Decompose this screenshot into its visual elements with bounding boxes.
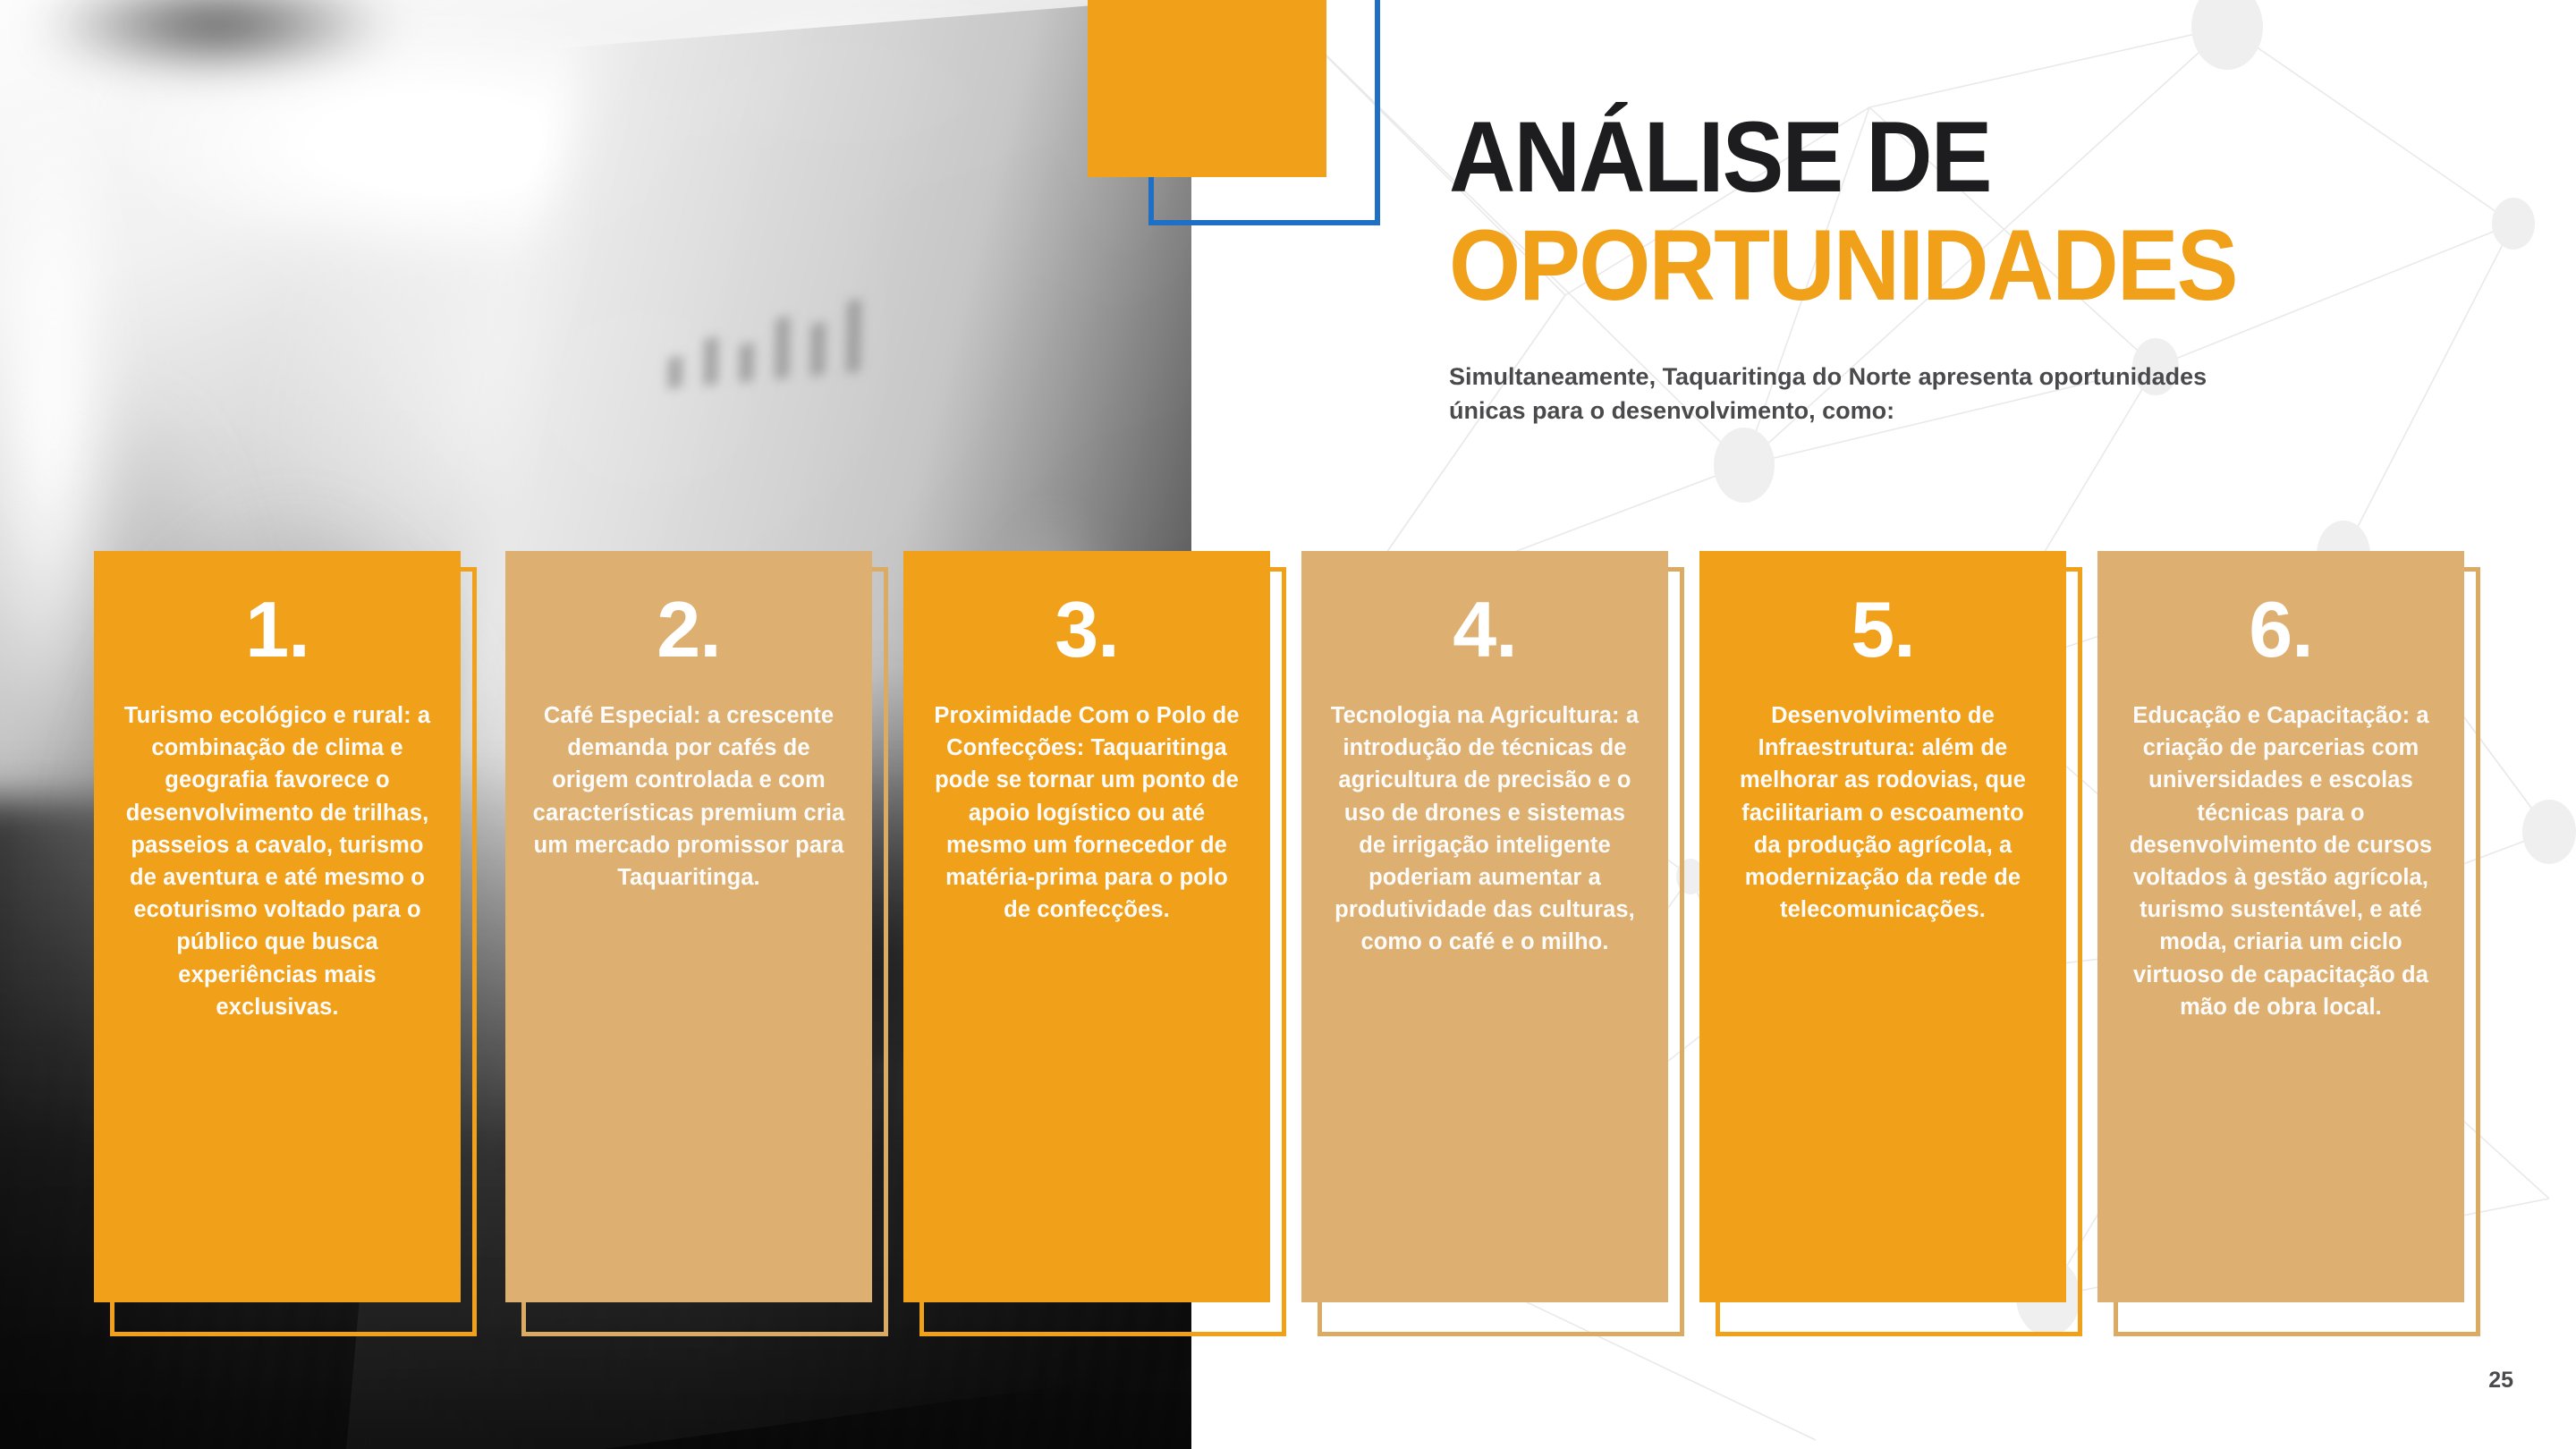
card-text-3: Proximidade Com o Polo de Confecções: Ta… — [930, 699, 1243, 926]
card-number-4: 4. — [1328, 590, 1641, 669]
opportunity-card-6[interactable]: 6. Educação e Capacitação: a criação de … — [2097, 551, 2464, 1320]
card-text-4: Tecnologia na Agricultura: a introdução … — [1328, 699, 1641, 959]
orange-rectangle-icon — [1088, 0, 1326, 177]
card-body-5: 5. Desenvolvimento de Infraestrutura: al… — [1699, 551, 2066, 1302]
opportunity-card-3[interactable]: 3. Proximidade Com o Polo de Confecções:… — [903, 551, 1270, 1320]
slide: ANÁLISE DE OPORTUNIDADES Simultaneamente… — [0, 0, 2576, 1449]
card-body-4: 4. Tecnologia na Agricultura: a introduç… — [1301, 551, 1668, 1302]
page-subtitle: Simultaneamente, Taquaritinga do Norte a… — [1449, 360, 2227, 428]
card-number-2: 2. — [532, 590, 845, 669]
page-title-accent: OPORTUNIDADES — [1449, 213, 2420, 318]
opportunity-cards-row: 1. Turismo ecológico e rural: a combinaç… — [0, 551, 2576, 1338]
card-number-1: 1. — [121, 590, 434, 669]
card-number-3: 3. — [930, 590, 1243, 669]
card-text-5: Desenvolvimento de Infraestrutura: além … — [1726, 699, 2039, 926]
card-text-1: Turismo ecológico e rural: a combinação … — [121, 699, 434, 1023]
opportunity-card-5[interactable]: 5. Desenvolvimento de Infraestrutura: al… — [1699, 551, 2066, 1320]
opportunity-card-4[interactable]: 4. Tecnologia na Agricultura: a introduç… — [1301, 551, 1668, 1320]
card-body-2: 2. Café Especial: a crescente demanda po… — [505, 551, 872, 1302]
page-header: ANÁLISE DE OPORTUNIDADES Simultaneamente… — [1449, 107, 2504, 428]
page-number: 25 — [2488, 1368, 2513, 1394]
card-text-6: Educação e Capacitação: a criação de par… — [2124, 699, 2437, 1023]
card-text-2: Café Especial: a crescente demanda por c… — [532, 699, 845, 894]
card-number-5: 5. — [1726, 590, 2039, 669]
card-body-1: 1. Turismo ecológico e rural: a combinaç… — [94, 551, 461, 1302]
page-title-primary: ANÁLISE DE — [1449, 107, 2420, 208]
opportunity-card-1[interactable]: 1. Turismo ecológico e rural: a combinaç… — [94, 551, 461, 1320]
card-body-3: 3. Proximidade Com o Polo de Confecções:… — [903, 551, 1270, 1302]
opportunity-card-2[interactable]: 2. Café Especial: a crescente demanda po… — [505, 551, 872, 1320]
card-number-6: 6. — [2124, 590, 2437, 669]
card-body-6: 6. Educação e Capacitação: a criação de … — [2097, 551, 2464, 1302]
